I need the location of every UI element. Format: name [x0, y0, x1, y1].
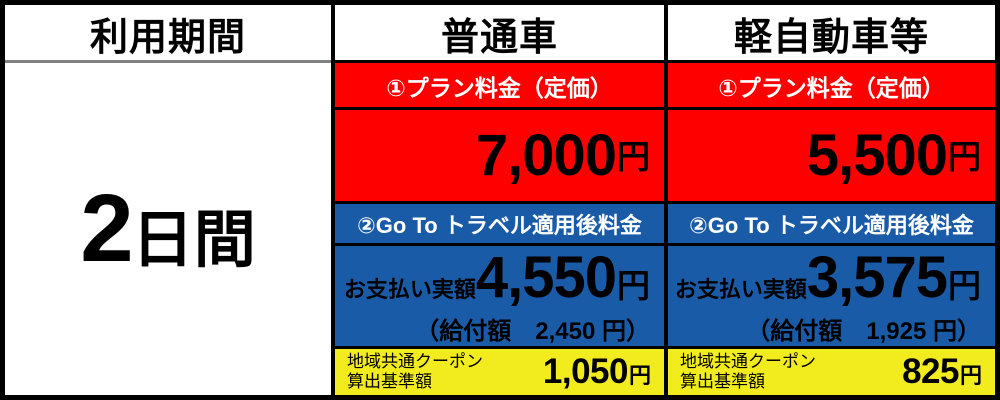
header-period-label: 利用期間 [90, 6, 246, 61]
plan-goto-divider-kei-car [668, 201, 995, 204]
yen-unit: 円 [617, 269, 650, 302]
goto-section-title-normal-car: ②Go To トラベル適用後料金 [335, 203, 664, 245]
table-border-right [995, 0, 1000, 400]
coupon-amount-wrap: 825 円 [902, 354, 982, 389]
period-unit: 日間 [132, 210, 256, 272]
plan-section-title-normal-car: ①プラン料金（定価） [335, 63, 664, 109]
yen-unit: 円 [948, 140, 981, 173]
goto-amount-value: 4,550 [476, 249, 616, 307]
goto-title-divider-kei-car [668, 243, 995, 246]
goto-main-line: お支払い実額 3,575 円 [684, 249, 981, 307]
header-divider-period [5, 60, 331, 63]
header-cell-period: 利用期間 [5, 5, 331, 62]
goto-subsidy-text: （給付額 1,925 円） [746, 311, 981, 346]
coupon-label: 地域共通クーポン 算出基準額 [680, 352, 816, 391]
goto-title-text: ②Go To トラベル適用後料金 [357, 208, 642, 240]
goto-subsidy-line: （給付額 1,925 円） [684, 311, 985, 346]
goto-subsidy-text: （給付額 2,450 円） [415, 311, 650, 346]
price-comparison-table: 利用期間 普通車 軽自動車等 2 日間 ①プラン料金（定価） ①プラン料金（定価… [0, 0, 1000, 400]
goto-title-divider-normal-car [335, 243, 664, 246]
goto-subsidy-line: （給付額 2,450 円） [351, 311, 654, 346]
plan-title-divider-normal-car [335, 107, 664, 110]
yen-unit: 円 [629, 365, 651, 387]
column-divider-1 [331, 5, 335, 395]
goto-amount-cell-normal-car: お支払い実額 4,550 円 （給付額 2,450 円） [335, 246, 664, 348]
column-divider-2 [664, 5, 668, 395]
plan-title-text: ①プラン料金（定価） [386, 69, 612, 103]
yen-unit: 円 [617, 140, 650, 173]
plan-goto-divider-normal-car [335, 201, 664, 204]
goto-section-title-kei-car: ②Go To トラベル適用後料金 [668, 203, 995, 245]
coupon-amount-value: 825 [902, 354, 959, 389]
period-value: 2 日間 [80, 181, 255, 277]
plan-amount-cell-kei-car: 5,500 円 [668, 110, 995, 202]
plan-title-divider-kei-car [668, 107, 995, 110]
goto-payment-label: お支払い実額 [344, 272, 476, 304]
period-number: 2 [80, 181, 131, 277]
coupon-label-line2: 算出基準額 [680, 372, 816, 392]
table-border-bottom [0, 395, 1000, 400]
plan-amount-value: 7,000 [476, 127, 616, 185]
coupon-amount-wrap: 1,050 円 [543, 354, 651, 389]
yen-unit: 円 [948, 269, 981, 302]
coupon-label-line2: 算出基準額 [347, 372, 483, 392]
coupon-cell-normal-car: 地域共通クーポン 算出基準額 1,050 円 [335, 348, 664, 395]
header-normal-car-label: 普通車 [441, 6, 558, 61]
header-cell-kei-car: 軽自動車等 [668, 5, 995, 62]
header-cell-normal-car: 普通車 [335, 5, 664, 62]
goto-payment-label: お支払い実額 [675, 272, 807, 304]
goto-main-line: お支払い実額 4,550 円 [351, 249, 650, 307]
goto-amount-cell-kei-car: お支払い実額 3,575 円 （給付額 1,925 円） [668, 246, 995, 348]
plan-title-text: ①プラン料金（定価） [718, 69, 944, 103]
plan-amount-cell-normal-car: 7,000 円 [335, 110, 664, 202]
header-kei-car-label: 軽自動車等 [734, 6, 929, 61]
plan-amount-value: 5,500 [807, 127, 947, 185]
coupon-label-line1: 地域共通クーポン [680, 352, 816, 372]
coupon-label-line1: 地域共通クーポン [347, 352, 483, 372]
yen-unit: 円 [960, 365, 982, 387]
goto-amount-value: 3,575 [807, 249, 947, 307]
goto-coupon-divider-kei-car [668, 346, 995, 349]
goto-coupon-divider-normal-car [335, 346, 664, 349]
goto-title-text: ②Go To トラベル適用後料金 [689, 208, 974, 240]
coupon-amount-value: 1,050 [543, 354, 628, 389]
coupon-cell-kei-car: 地域共通クーポン 算出基準額 825 円 [668, 348, 995, 395]
header-divider-vehicles [331, 60, 995, 63]
plan-section-title-kei-car: ①プラン料金（定価） [668, 63, 995, 109]
period-cell: 2 日間 [5, 63, 331, 395]
coupon-label: 地域共通クーポン 算出基準額 [347, 352, 483, 391]
